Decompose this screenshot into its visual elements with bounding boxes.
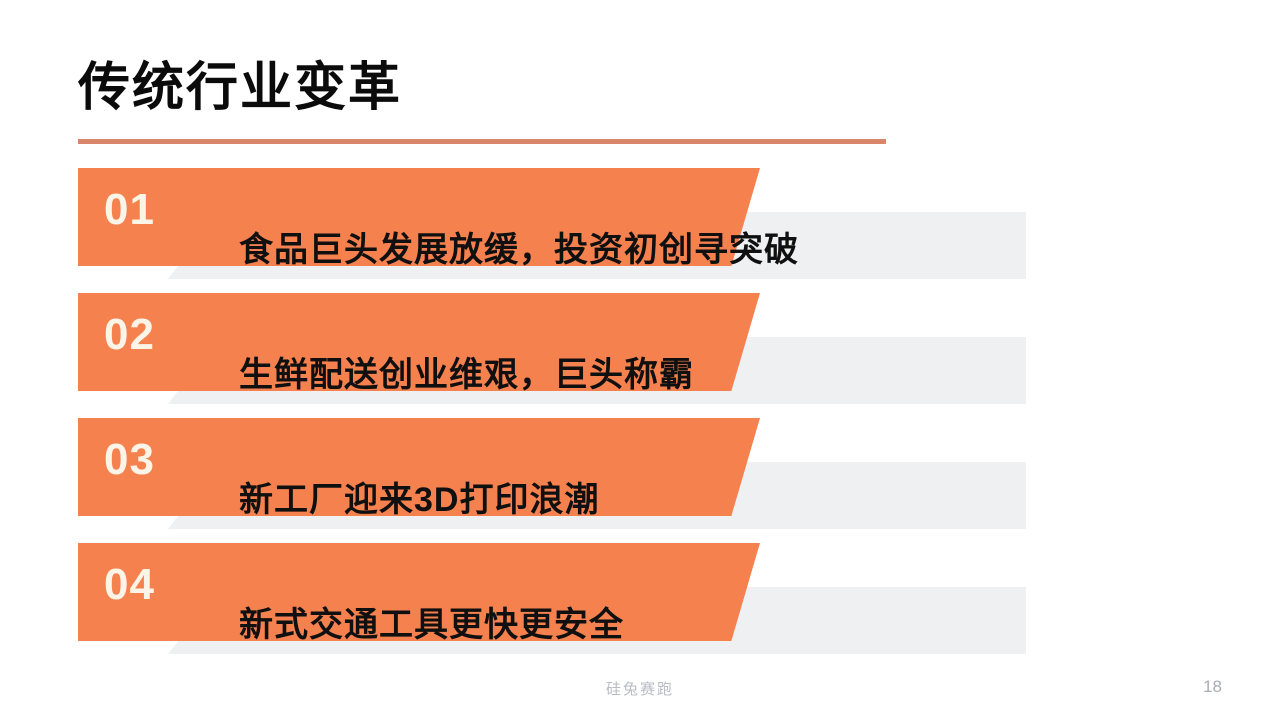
numbered-list: 01 食品巨头发展放缓，投资初创寻突破 02 生鲜配送创业维艰，巨头称霸 03 … (0, 0, 1280, 720)
list-item-label: 食品巨头发展放缓，投资初创寻突破 (239, 216, 799, 276)
footer-watermark: 硅兔赛跑 (0, 678, 1280, 699)
list-item-label: 生鲜配送创业维艰，巨头称霸 (239, 341, 694, 401)
list-item-label: 新工厂迎来3D打印浪潮 (239, 466, 599, 526)
page-number: 18 (1203, 677, 1222, 697)
list-item-number: 01 (104, 188, 155, 232)
list-item-label: 新式交通工具更快更安全 (239, 591, 624, 651)
list-item-number: 03 (104, 438, 155, 482)
list-item-number: 02 (104, 313, 155, 357)
list-item[interactable]: 02 生鲜配送创业维艰，巨头称霸 (0, 293, 1280, 413)
slide-canvas: 传统行业变革 01 食品巨头发展放缓，投资初创寻突破 02 生鲜配送创业维艰，巨… (0, 0, 1280, 720)
list-item[interactable]: 03 新工厂迎来3D打印浪潮 (0, 418, 1280, 538)
list-item[interactable]: 04 新式交通工具更快更安全 (0, 543, 1280, 663)
list-item-number: 04 (104, 563, 155, 607)
list-item[interactable]: 01 食品巨头发展放缓，投资初创寻突破 (0, 168, 1280, 288)
